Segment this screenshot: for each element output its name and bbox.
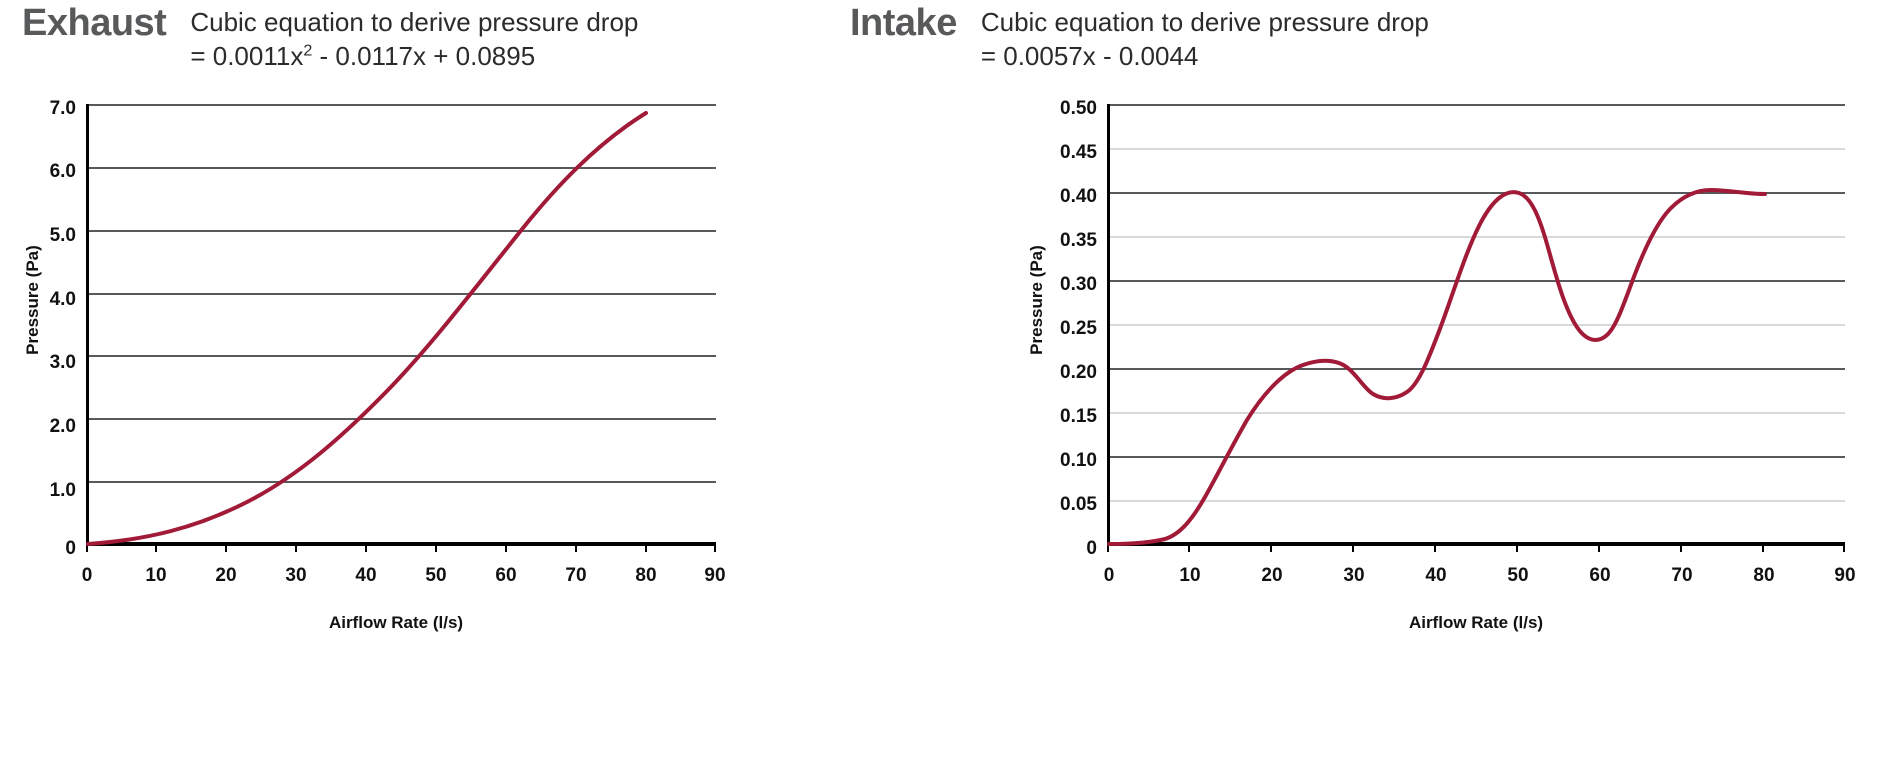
intake-ytick-050: 0.50: [1017, 99, 1097, 118]
exhaust-ytick-5: 5.0: [14, 226, 76, 245]
exhaust-equation-line2-pre: = 0.0011x: [190, 41, 303, 71]
intake-ytick-040: 0.40: [1017, 187, 1097, 206]
exhaust-ytick-6: 6.0: [14, 162, 76, 181]
panel-intake: Intake Cubic equation to derive pressure…: [845, 0, 1695, 777]
exhaust-ytick-1: 1.0: [14, 481, 76, 500]
exhaust-equation: Cubic equation to derive pressure drop =…: [190, 6, 638, 74]
intake-data-line: [1109, 190, 1765, 544]
intake-ytick-010: 0.10: [1017, 451, 1097, 470]
exhaust-xtick-60: 60: [476, 566, 536, 585]
exhaust-ytick-7: 7.0: [14, 99, 76, 118]
exhaust-title: Exhaust: [22, 4, 166, 42]
intake-xtick-50: 50: [1488, 566, 1548, 585]
intake-xtick-30: 30: [1324, 566, 1384, 585]
exhaust-xtick-70: 70: [546, 566, 606, 585]
intake-equation-line2: = 0.0057x - 0.0044: [981, 40, 1429, 74]
intake-ytick-045: 0.45: [1017, 143, 1097, 162]
exhaust-data-line: [88, 113, 646, 544]
exhaust-xtick-80: 80: [616, 566, 676, 585]
exhaust-xtick-20: 20: [196, 566, 256, 585]
exhaust-equation-exponent: 2: [303, 41, 312, 59]
exhaust-ytick-2: 2.0: [14, 417, 76, 436]
exhaust-xtick-30: 30: [266, 566, 326, 585]
exhaust-header: Exhaust Cubic equation to derive pressur…: [22, 4, 638, 74]
intake-ytick-030: 0.30: [1017, 275, 1097, 294]
intake-ytick-035: 0.35: [1017, 231, 1097, 250]
intake-xtick-0: 0: [1079, 566, 1139, 585]
intake-header: Intake Cubic equation to derive pressure…: [850, 4, 1429, 74]
exhaust-x-axis-title: Airflow Rate (l/s): [206, 613, 586, 633]
intake-xtick-60: 60: [1570, 566, 1630, 585]
exhaust-ytick-0: 0: [14, 539, 76, 558]
exhaust-xtick-0: 0: [57, 566, 117, 585]
intake-ytick-020: 0.20: [1017, 363, 1097, 382]
intake-title: Intake: [850, 4, 957, 42]
exhaust-xtick-50: 50: [406, 566, 466, 585]
exhaust-ytick-4: 4.0: [14, 290, 76, 309]
exhaust-equation-line2-post: - 0.0117x + 0.0895: [312, 41, 535, 71]
intake-xtick-70: 70: [1652, 566, 1712, 585]
intake-ytick-005: 0.05: [1017, 495, 1097, 514]
exhaust-ytick-3: 3.0: [14, 353, 76, 372]
exhaust-xtick-40: 40: [336, 566, 396, 585]
exhaust-xtick-10: 10: [126, 566, 186, 585]
intake-ytick-025: 0.25: [1017, 319, 1097, 338]
panel-exhaust: Exhaust Cubic equation to derive pressur…: [0, 0, 850, 777]
figure-root: Exhaust Cubic equation to derive pressur…: [0, 0, 1895, 777]
intake-xtick-10: 10: [1160, 566, 1220, 585]
intake-plot: [1107, 104, 1845, 552]
intake-xtick-20: 20: [1242, 566, 1302, 585]
exhaust-xtick-90: 90: [685, 566, 745, 585]
intake-ytick-015: 0.15: [1017, 407, 1097, 426]
exhaust-equation-line2: = 0.0011x2 - 0.0117x + 0.0895: [190, 40, 638, 74]
intake-xtick-40: 40: [1406, 566, 1466, 585]
intake-ytick-0: 0: [1017, 539, 1097, 558]
intake-xtick-80: 80: [1734, 566, 1794, 585]
exhaust-equation-line1: Cubic equation to derive pressure drop: [190, 6, 638, 40]
intake-equation: Cubic equation to derive pressure drop =…: [981, 6, 1429, 74]
intake-x-axis-title: Airflow Rate (l/s): [1286, 613, 1666, 633]
intake-equation-line1: Cubic equation to derive pressure drop: [981, 6, 1429, 40]
intake-xtick-90: 90: [1815, 566, 1875, 585]
exhaust-plot: [86, 104, 716, 552]
intake-equation-line2-pre: = 0.0057x - 0.0044: [981, 41, 1199, 71]
